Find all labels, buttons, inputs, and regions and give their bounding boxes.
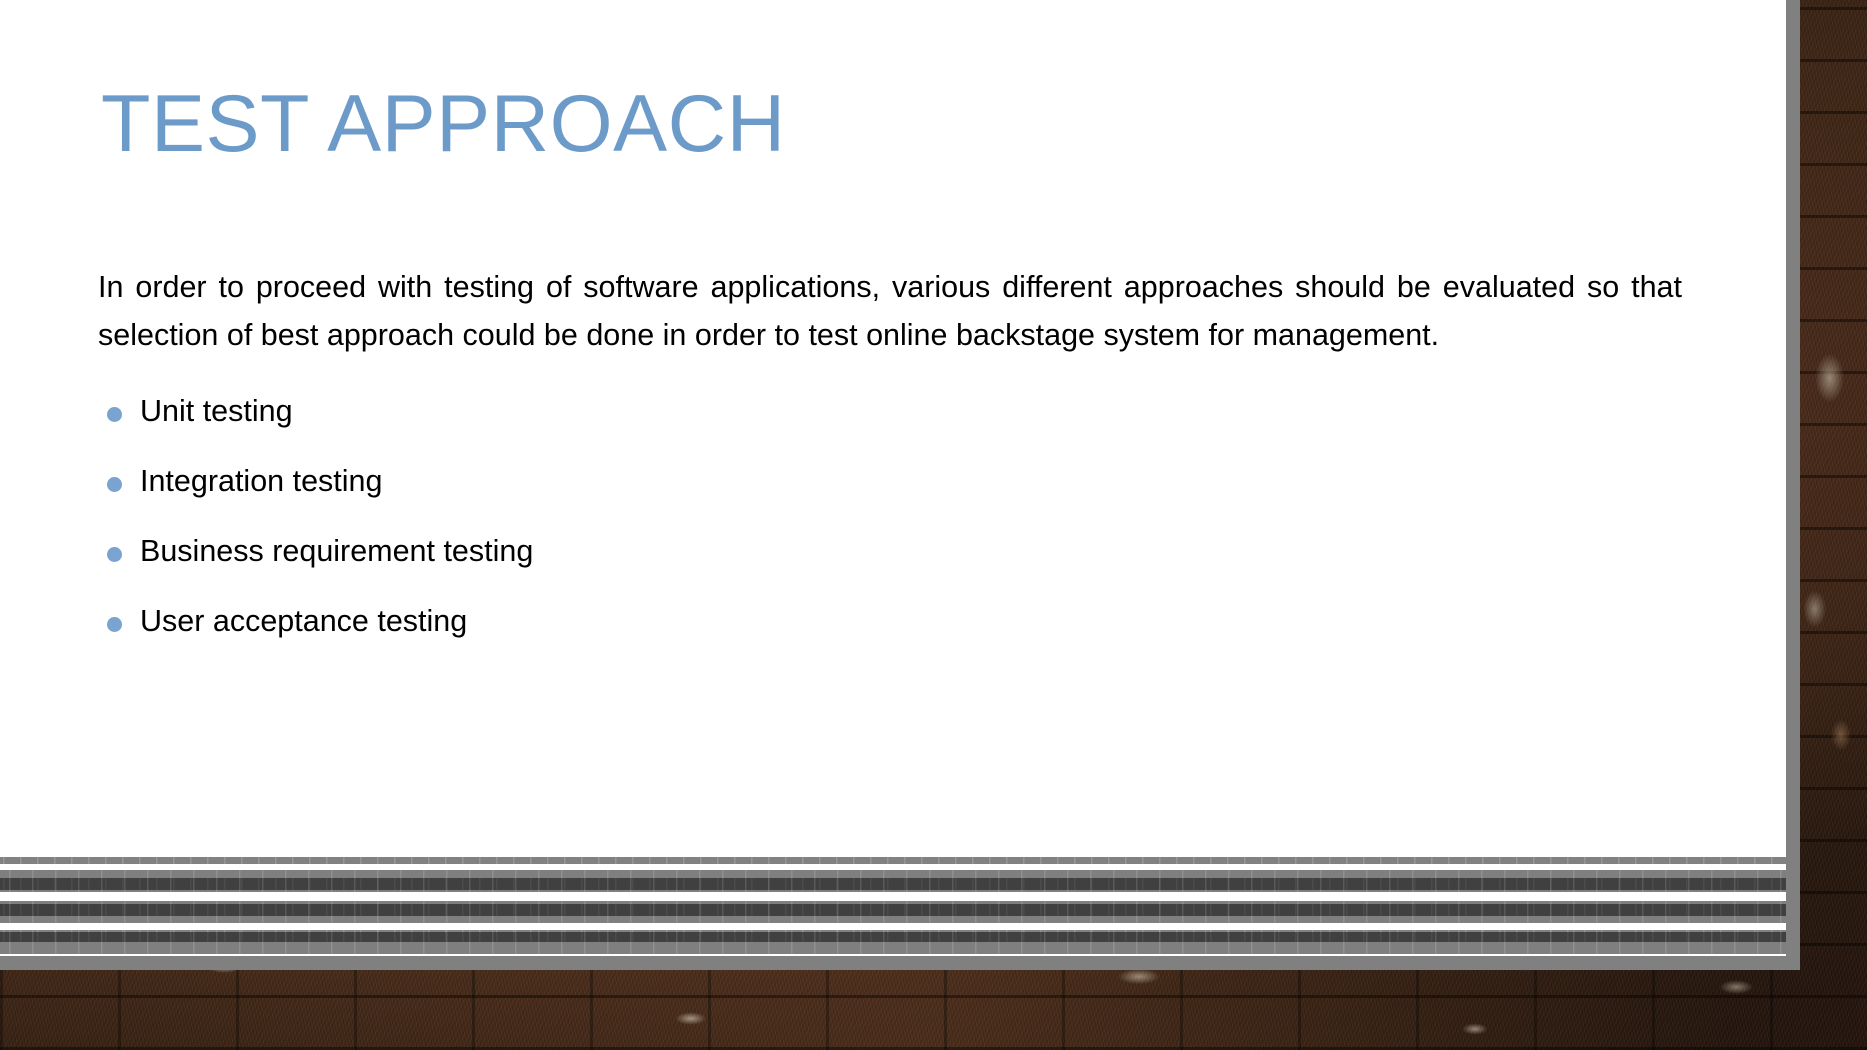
slide-body: In order to proceed with testing of soft… xyxy=(98,264,1682,639)
list-item: Integration testing xyxy=(98,464,1682,499)
list-item: User acceptance testing xyxy=(98,604,1682,639)
bullet-dot-icon xyxy=(107,407,122,422)
list-item: Business requirement testing xyxy=(98,534,1682,569)
intro-paragraph: In order to proceed with testing of soft… xyxy=(98,264,1682,359)
bullet-dot-icon xyxy=(107,617,122,632)
list-item-label: User acceptance testing xyxy=(140,604,467,638)
bullet-dot-icon xyxy=(107,547,122,562)
list-item-label: Business requirement testing xyxy=(140,534,533,568)
list-item-label: Unit testing xyxy=(140,394,293,428)
list-item-label: Integration testing xyxy=(140,464,382,498)
page-title: TEST APPROACH xyxy=(101,84,1661,165)
decorative-bottom-banner xyxy=(0,857,1786,956)
list-item: Unit testing xyxy=(98,394,1682,429)
bullet-list: Unit testing Integration testing Busines… xyxy=(98,394,1682,639)
presentation-slide: TEST APPROACH In order to proceed with t… xyxy=(0,0,1786,956)
bullet-dot-icon xyxy=(107,477,122,492)
banner-texture-layer-2 xyxy=(0,864,1786,956)
